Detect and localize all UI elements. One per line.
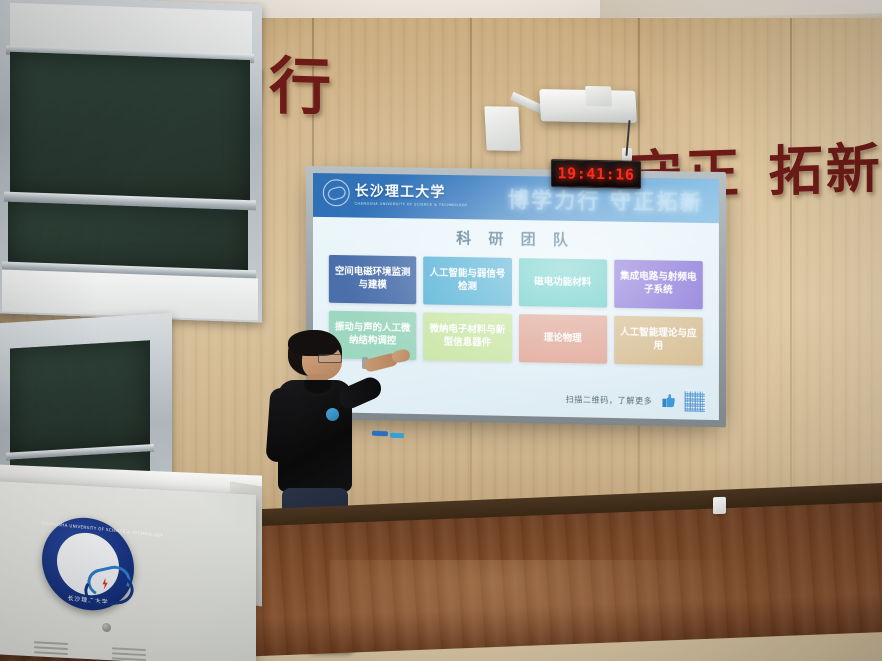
wall-light-switch[interactable] — [713, 497, 726, 514]
sliding-blackboard-left — [0, 0, 262, 323]
pointing-hand-icon — [659, 392, 677, 410]
qr-code[interactable] — [685, 391, 705, 411]
projector-wall-mount-plate — [484, 106, 520, 151]
team-box[interactable]: 磁电功能材料 — [518, 258, 606, 308]
podium-vent-slot — [34, 646, 68, 649]
podium-vent-slot — [34, 641, 68, 644]
university-seal-icon — [323, 179, 350, 206]
team-box-row-1: 空间电磁环境监测与建模 人工智能与弱信号检测 磁电功能材料 集成电路与射频电子系… — [329, 255, 703, 309]
slide-section-title: 科 研 团 队 — [313, 225, 719, 253]
presenter-badge — [326, 408, 339, 421]
presenter-collar — [304, 380, 332, 396]
slide-header-title: 博学力行 守正拓新 — [508, 184, 703, 217]
university-logo: 长沙理工大学 CHANGSHA UNIVERSITY OF SCIENCE & … — [323, 179, 468, 208]
podium-vent-slot — [112, 647, 146, 650]
team-box[interactable]: 人工智能与弱信号检测 — [423, 256, 511, 305]
podium-vent-slot — [112, 657, 146, 660]
university-name-cn: 长沙理工大学 — [355, 184, 446, 201]
scan-qr-label: 扫描二维码，了解更多 — [566, 393, 653, 406]
team-box[interactable]: 空间电磁环境监测与建模 — [329, 255, 417, 304]
wall-panel-seam — [790, 18, 792, 538]
team-box[interactable]: 理论物理 — [518, 314, 606, 364]
slide-header-band: 长沙理工大学 CHANGSHA UNIVERSITY OF SCIENCE & … — [313, 173, 719, 223]
podium-front-panel: CHANGSHA UNIVERSITY OF SCIENCE & TECHNOL… — [0, 481, 256, 661]
university-emblem: CHANGSHA UNIVERSITY OF SCIENCE & TECHNOL… — [42, 513, 134, 615]
presenter-glasses — [318, 354, 342, 363]
led-wall-clock: 19:41:16 — [551, 159, 641, 189]
podium-vent-slot — [34, 651, 68, 654]
blackboard-tray — [2, 269, 258, 320]
projector-lens — [585, 86, 612, 107]
clock-time-display: 19:41:16 — [557, 164, 634, 184]
presenter-right-upper-arm — [335, 374, 384, 412]
presenter-hair-front — [288, 330, 338, 356]
team-box[interactable]: 人工智能理论与应用 — [614, 316, 703, 366]
team-box[interactable]: 微纳电子材料与新型信息器件 — [423, 312, 511, 362]
floor-light-reflection — [330, 560, 750, 661]
blackboard-panel-upper — [10, 340, 150, 454]
classroom-scene: 博学力行 守正拓新 长沙理工大学 — [0, 0, 882, 661]
team-box[interactable]: 集成电路与射频电子系统 — [614, 260, 703, 310]
podium-vent-slot — [112, 652, 146, 655]
marker-pen[interactable] — [390, 433, 404, 438]
lectern-podium: CHANGSHA UNIVERSITY OF SCIENCE & TECHNOL… — [0, 470, 262, 661]
podium-lock[interactable] — [102, 623, 111, 632]
ceiling-projector — [539, 83, 637, 125]
blackboard-panel-upper — [10, 52, 250, 203]
university-name-en: CHANGSHA UNIVERSITY OF SCIENCE & TECHNOL… — [355, 202, 468, 208]
